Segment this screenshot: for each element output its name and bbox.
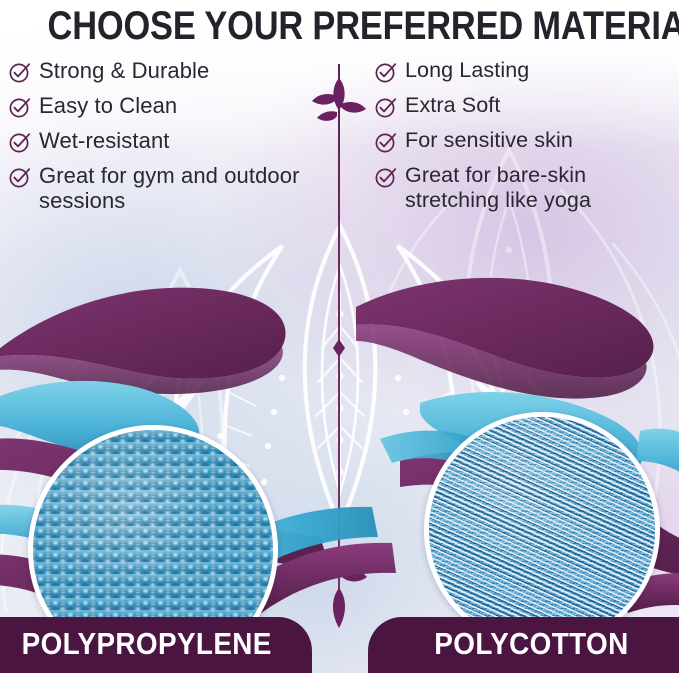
list-item-label: Extra Soft <box>405 93 500 118</box>
diagonal-twill-weave-texture-icon <box>429 417 655 643</box>
check-circle-icon <box>8 95 32 119</box>
list-item: Wet-resistant <box>8 128 308 154</box>
polypropylene-label: POLYPROPYLENE <box>22 626 285 664</box>
check-circle-icon <box>8 165 32 189</box>
list-item-label: Great for gym and outdoor sessions <box>39 163 308 213</box>
list-item: Easy to Clean <box>8 93 308 119</box>
check-circle-icon <box>374 130 398 154</box>
polycotton-swatch <box>424 412 660 648</box>
polycotton-label: POLYCOTTON <box>425 626 628 664</box>
check-circle-icon <box>8 60 32 84</box>
check-circle-icon <box>374 60 398 84</box>
page-title: CHOOSE YOUR PREFERRED MATERIAL: <box>48 4 632 49</box>
list-item-label: For sensitive skin <box>405 128 573 153</box>
check-circle-icon <box>374 95 398 119</box>
polypropylene-feature-list: Strong & Durable Easy to Clean Wet-resis… <box>8 58 308 222</box>
polycotton-feature-list: Long Lasting Extra Soft For sensitive sk… <box>374 58 674 222</box>
list-item-label: Strong & Durable <box>39 58 209 83</box>
polypropylene-label-bar: POLYPROPYLENE <box>0 617 312 673</box>
list-item: Great for gym and outdoor sessions <box>8 163 308 213</box>
list-item-label: Wet-resistant <box>39 128 170 153</box>
list-item: Extra Soft <box>374 93 674 119</box>
list-item-label: Long Lasting <box>405 58 529 83</box>
list-item: For sensitive skin <box>374 128 674 154</box>
list-item-label: Easy to Clean <box>39 93 177 118</box>
vine-leaf-divider-icon <box>304 74 374 144</box>
polycotton-label-bar: POLYCOTTON <box>368 617 679 673</box>
list-item: Strong & Durable <box>8 58 308 84</box>
list-item: Great for bare-skin stretching like yoga <box>374 163 674 213</box>
list-item-label: Great for bare-skin stretching like yoga <box>405 163 674 213</box>
check-circle-icon <box>374 165 398 189</box>
material-comparison-poster: CHOOSE YOUR PREFERRED MATERIAL: Strong &… <box>0 0 679 673</box>
list-item: Long Lasting <box>374 58 674 84</box>
check-circle-icon <box>8 130 32 154</box>
